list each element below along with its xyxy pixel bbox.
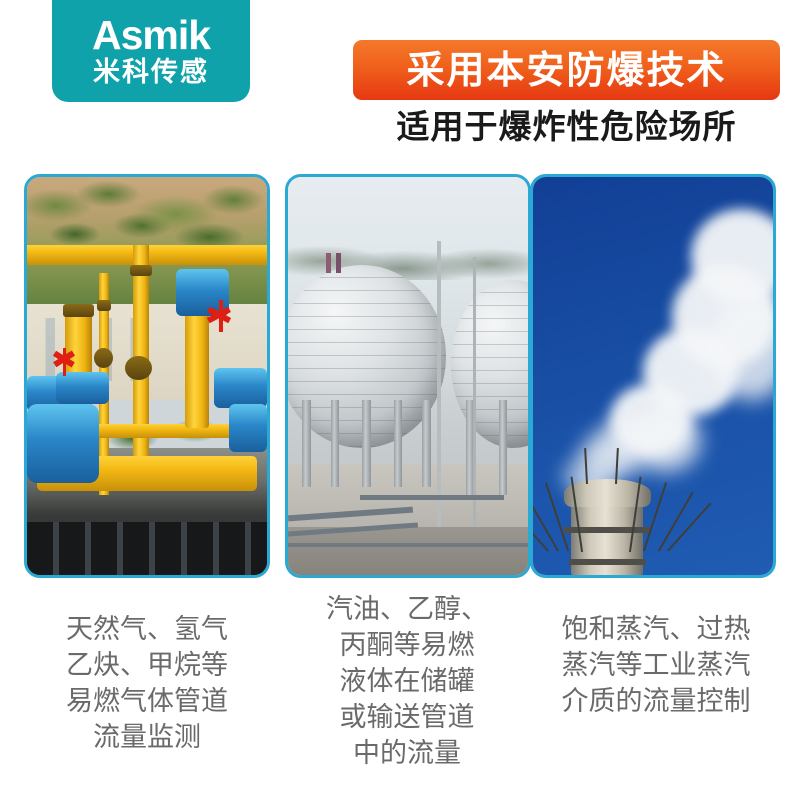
brand-logo-cn: 米科传感 (93, 58, 209, 88)
caption-line: 饱和蒸汽、过热 (528, 612, 784, 648)
header-subtitle: 适用于爆炸性危险场所 (353, 108, 780, 146)
caption-steam-stack: 饱和蒸汽、过热 蒸汽等工业蒸汽 介质的流量控制 (528, 584, 784, 720)
page-header: Asmik 米科传感 采用本安防爆技术 适用于爆炸性危险场所 (0, 0, 800, 168)
photo-panel-steam-stack (530, 174, 776, 578)
caption-line: 流量监测 (22, 720, 272, 756)
caption-line: 天然气、氢气 (22, 612, 272, 648)
scene-steam-stack-blue-sky (533, 177, 773, 575)
photo-panel-group (0, 174, 800, 584)
caption-group: 天然气、氢气 乙炔、甲烷等 易燃气体管道 流量监测 汽油、乙醇、 丙酮等易燃 液… (0, 584, 800, 800)
caption-line: 液体在储罐 (282, 664, 532, 700)
caption-line: 易燃气体管道 (22, 684, 272, 720)
caption-line: 丙酮等易燃 (282, 628, 532, 664)
brand-logo: Asmik 米科传感 (52, 0, 250, 102)
caption-storage-tanks: 汽油、乙醇、 丙酮等易燃 液体在储罐 或输送管道 中的流量 (282, 584, 532, 772)
caption-line: 乙炔、甲烷等 (22, 648, 272, 684)
feature-banner: 采用本安防爆技术 (353, 40, 780, 100)
caption-line: 蒸汽等工业蒸汽 (528, 648, 784, 684)
caption-line: 介质的流量控制 (528, 684, 784, 720)
caption-gas-pipeline: 天然气、氢气 乙炔、甲烷等 易燃气体管道 流量监测 (22, 584, 272, 756)
scene-yellow-gas-pipeline-valves (27, 177, 267, 575)
photo-panel-storage-tanks (285, 174, 531, 578)
photo-panel-gas-pipeline (24, 174, 270, 578)
feature-banner-text: 采用本安防爆技术 (406, 50, 726, 90)
brand-logo-en: Asmik (92, 14, 210, 56)
caption-line: 中的流量 (282, 736, 532, 772)
caption-line: 汽油、乙醇、 (282, 592, 532, 628)
scene-lpg-spherical-storage-tanks (288, 177, 528, 575)
caption-line: 或输送管道 (282, 700, 532, 736)
